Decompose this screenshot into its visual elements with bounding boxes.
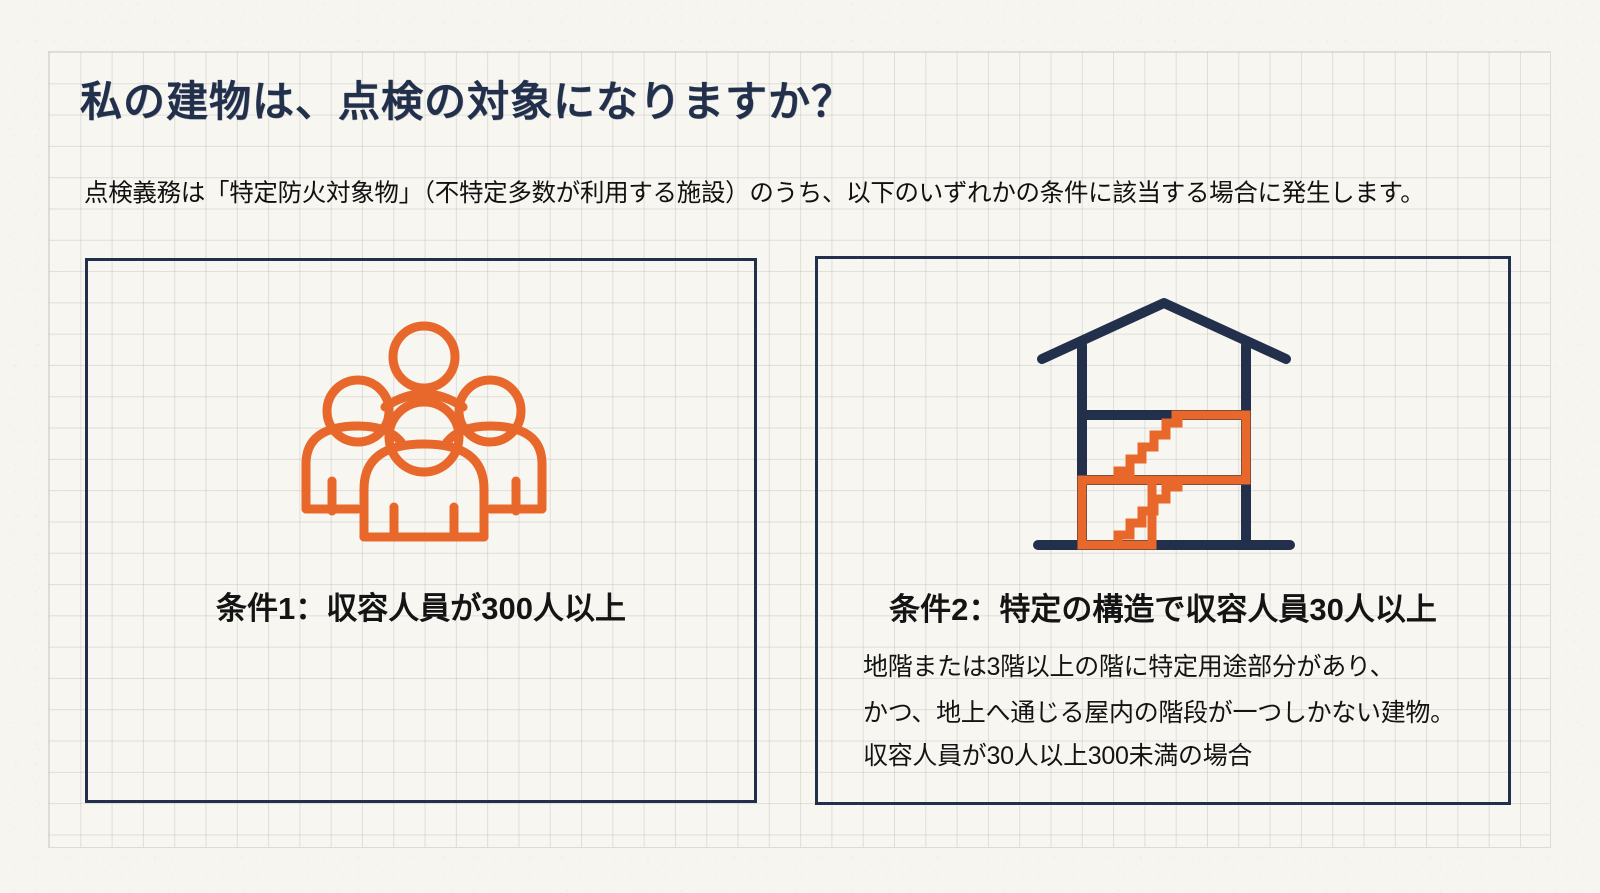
card-2-body-line: 地階または3階以上の階に特定用途部分があり、 (863, 647, 1394, 683)
page-title: 私の建物は、点検の対象になりますか？ (80, 68, 854, 129)
slide-content: 私の建物は、点検の対象になりますか？ 点検義務は「特定防火対象物」（不特定多数が… (0, 0, 1600, 893)
card-2-body-line: かつ、地上へ通じる屋内の階段が一つしかない建物。 (863, 693, 1455, 729)
condition-card-2: 条件2：特定の構造で収容人員30人以上 地階または3階以上の階に特定用途部分があ… (815, 256, 1511, 805)
page-subtitle: 点検義務は「特定防火対象物」（不特定多数が利用する施設）のうち、以下のいずれかの… (84, 174, 1425, 209)
card-2-body-line: 収容人員が30人以上300未満の場合 (863, 736, 1252, 772)
building-cross-section-stairs-icon (1024, 297, 1304, 562)
card-1-heading: 条件1：収容人員が300人以上 (88, 583, 754, 628)
card-2-heading: 条件2：特定の構造で収容人員30人以上 (818, 584, 1508, 629)
condition-card-1: 条件1：収容人員が300人以上 (85, 258, 757, 803)
group-of-people-icon (284, 319, 564, 544)
